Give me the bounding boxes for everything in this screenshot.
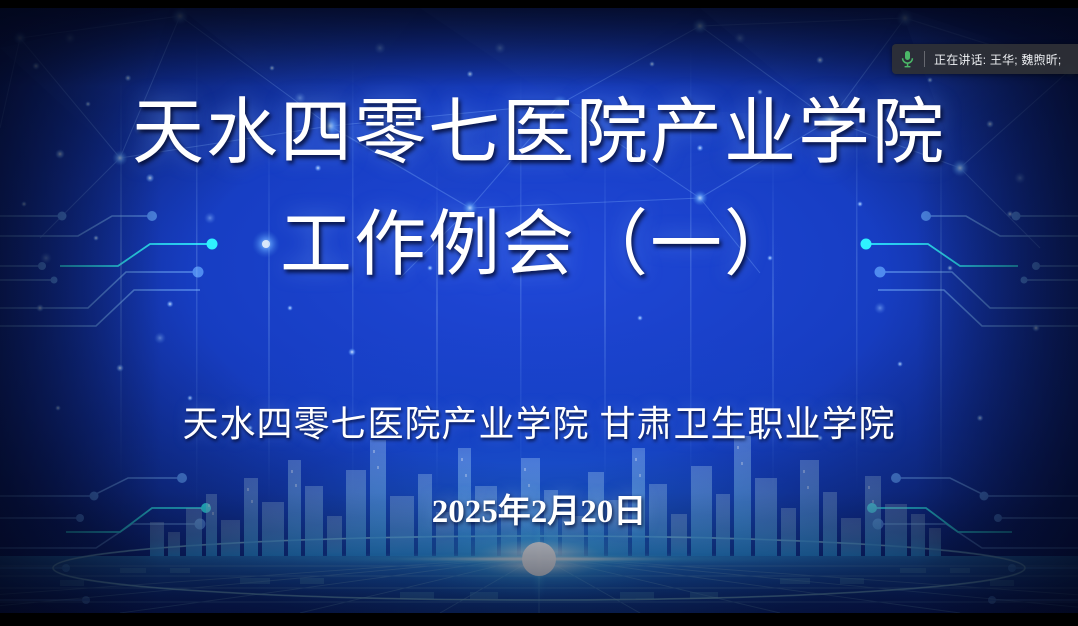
circuit-traces-left-decor xyxy=(0,8,1078,613)
slide-title-line-2: 工作例会（一） xyxy=(0,209,1078,281)
pill-divider xyxy=(924,51,925,67)
letterbox-top xyxy=(0,0,1078,8)
circuit-traces-right-decor xyxy=(0,8,1078,613)
vignette-overlay xyxy=(0,8,1078,613)
city-skyline-decor xyxy=(0,8,1078,613)
presentation-slide: 天水四零七医院产业学院 工作例会（一） 天水四零七医院产业学院 甘肃卫生职业学院… xyxy=(0,8,1078,613)
microphone-icon xyxy=(901,50,914,68)
slide-text-block: 天水四零七医院产业学院 工作例会（一） 天水四零七医院产业学院 甘肃卫生职业学院… xyxy=(0,8,1078,613)
screen-share-view: 天水四零七医院产业学院 工作例会（一） 天水四零七医院产业学院 甘肃卫生职业学院… xyxy=(0,0,1078,626)
network-mesh-decor xyxy=(0,8,1078,613)
particle-field-decor xyxy=(0,8,1078,613)
slide-title-line-1: 天水四零七医院产业学院 xyxy=(0,97,1078,169)
speaking-indicator-pill[interactable]: 正在讲话: 王华; 魏煦昕; xyxy=(892,44,1078,74)
slide-date: 2025年2月20日 xyxy=(0,496,1078,529)
light-streaks-decor xyxy=(0,8,1078,613)
speaking-text: 正在讲话: 王华; 魏煦昕; xyxy=(934,51,1061,68)
letterbox-bottom xyxy=(0,613,1078,626)
slide-subtitle: 天水四零七医院产业学院 甘肃卫生职业学院 xyxy=(0,406,1078,442)
